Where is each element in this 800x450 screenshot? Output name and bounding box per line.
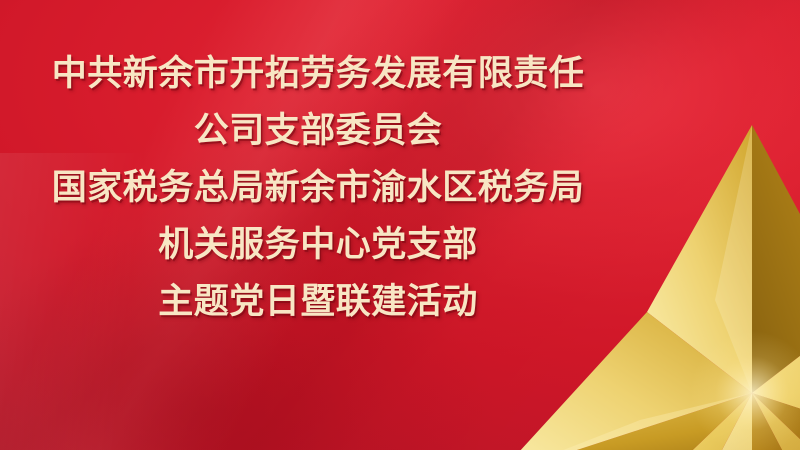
- headline-line-1: 中共新余市开拓劳务发展有限责任: [0, 46, 636, 103]
- headline-line-3: 国家税务总局新余市渝水区税务局: [0, 160, 636, 217]
- headline-line-4: 机关服务中心党支部: [0, 217, 636, 274]
- headline-line-5: 主题党日暨联建活动: [0, 274, 636, 331]
- headline-block: 中共新余市开拓劳务发展有限责任 公司支部委员会 国家税务总局新余市渝水区税务局 …: [0, 46, 636, 331]
- headline-line-2: 公司支部委员会: [0, 103, 636, 160]
- event-backdrop-banner: 中共新余市开拓劳务发展有限责任 公司支部委员会 国家税务总局新余市渝水区税务局 …: [0, 0, 800, 450]
